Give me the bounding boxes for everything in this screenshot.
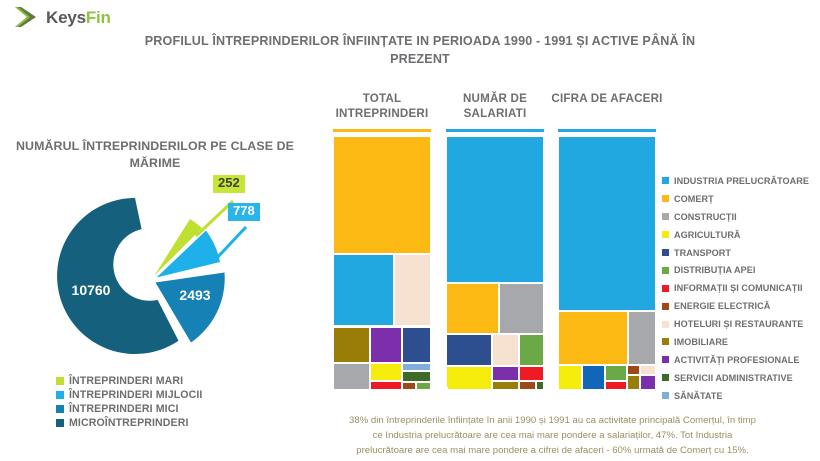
- sector-legend-swatch-servicii-administrative: [662, 374, 669, 381]
- treemap-cell[interactable]: [333, 136, 431, 254]
- legend-item-intreprinderi-mici[interactable]: ÎNTREPRINDERI MICI: [56, 402, 202, 416]
- sector-legend-swatch-informa-ii-i-comunica-ii: [662, 285, 669, 292]
- page-title: PROFILUL ÎNTREPRINDERILOR ÎNFIINȚATE IN …: [130, 32, 710, 69]
- sector-legend-label-comer: COMERȚ: [674, 194, 714, 204]
- sector-legend-swatch-comer: [662, 195, 669, 202]
- treemap-cell[interactable]: [627, 375, 641, 390]
- legend-label-intreprinderi-mici: ÎNTREPRINDERI MICI: [69, 403, 179, 415]
- treemap-body-cifra-de-afaceri: [558, 136, 656, 390]
- sector-legend-label-agricultur: AGRICULTURĂ: [674, 230, 741, 240]
- treemap-title-cifra-de-afaceri: CIFRA DE AFACERI: [549, 91, 665, 106]
- treemap-cell[interactable]: [492, 366, 518, 381]
- legend-swatch-intreprinderi-mari: [56, 377, 64, 385]
- treemap-cifra-de-afaceri: CIFRA DE AFACERI: [558, 136, 656, 390]
- legend-swatch-intreprinderi-mici: [56, 405, 64, 413]
- sector-legend-item-s-n-tate[interactable]: SĂNĂTATE: [662, 387, 809, 405]
- treemap-cell[interactable]: [519, 334, 544, 366]
- sector-legend-swatch-s-n-tate: [662, 392, 669, 399]
- sector-legend-label-activit-i-profesionale: ACTIVITĂȚI PROFESIONALE: [674, 355, 799, 365]
- sector-legend-item-informa-ii-i-comunica-ii[interactable]: INFORMAȚII ȘI COMUNICAȚII: [662, 279, 809, 297]
- sector-legend-item-hoteluri-i-restaurante[interactable]: HOTELURI ȘI RESTAURANTE: [662, 315, 809, 333]
- treemap-cell[interactable]: [402, 327, 431, 364]
- treemap-cell[interactable]: [536, 381, 544, 390]
- treemap-cell[interactable]: [370, 363, 401, 380]
- donut-callout-778: 778: [228, 203, 260, 221]
- treemap-cell[interactable]: [499, 283, 544, 334]
- treemap-cell[interactable]: [605, 381, 627, 390]
- treemap-cell[interactable]: [558, 365, 582, 390]
- sector-legend-swatch-distribu-ia-apei: [662, 267, 669, 274]
- legend-item-intreprinderi-mari[interactable]: ÎNTREPRINDERI MARI: [56, 374, 202, 388]
- treemap-cell[interactable]: [640, 375, 656, 390]
- chevron-right-icon: [14, 6, 40, 28]
- footnote: 38% din întreprinderile înființate în an…: [300, 414, 805, 459]
- sector-legend-swatch-transport: [662, 249, 669, 256]
- footnote-line-2: ce Industria prelucrătoare are cea mai m…: [300, 429, 805, 444]
- legend-label-microintreprinderi: MICROÎNTREPRINDERI: [69, 417, 189, 429]
- sector-legend-swatch-activit-i-profesionale: [662, 356, 669, 363]
- sector-legend: INDUSTRIA PRELUCRĂTOARECOMERȚCONSTRUCȚII…: [662, 172, 809, 405]
- legend-item-microintreprinderi[interactable]: MICROÎNTREPRINDERI: [56, 416, 202, 430]
- footnote-line-3: prelucrătoare are cea mai mare pondere a…: [300, 444, 805, 459]
- treemap-cell[interactable]: [558, 311, 628, 364]
- sector-legend-item-energie-electric[interactable]: ENERGIE ELECTRICĂ: [662, 297, 809, 315]
- treemap-numar-de-salariati: NUMĂR DE SALARIATI: [446, 136, 544, 390]
- treemap-cell[interactable]: [628, 311, 656, 364]
- treemap-cell[interactable]: [394, 254, 431, 326]
- treemap-title-total-intreprinderi: TOTAL INTREPRINDERI: [324, 91, 440, 122]
- sector-legend-swatch-industria-prelucr-toare: [662, 177, 669, 184]
- sector-legend-item-industria-prelucr-toare[interactable]: INDUSTRIA PRELUCRĂTOARE: [662, 172, 809, 190]
- treemap-cell[interactable]: [446, 283, 499, 334]
- legend-swatch-intreprinderi-mijlocii: [56, 391, 64, 399]
- sector-legend-label-hoteluri-i-restaurante: HOTELURI ȘI RESTAURANTE: [674, 319, 803, 329]
- donut-value-10760: 10760: [72, 282, 111, 298]
- sector-legend-item-comer[interactable]: COMERȚ: [662, 190, 809, 208]
- sector-legend-label-construc-ii: CONSTRUCȚII: [674, 212, 737, 222]
- treemap-cell[interactable]: [519, 381, 537, 390]
- treemap-cell[interactable]: [333, 254, 394, 326]
- treemap-cell[interactable]: [605, 365, 627, 381]
- legend-label-intreprinderi-mari: ÎNTREPRINDERI MARI: [69, 375, 183, 387]
- treemap-cell[interactable]: [446, 334, 492, 366]
- sector-legend-item-activit-i-profesionale[interactable]: ACTIVITĂȚI PROFESIONALE: [662, 351, 809, 369]
- sector-legend-item-servicii-administrative[interactable]: SERVICII ADMINISTRATIVE: [662, 369, 809, 387]
- treemap-cell[interactable]: [333, 327, 370, 364]
- treemap-body-total-intreprinderi: [333, 136, 431, 390]
- treemap-total-intreprinderi: TOTAL INTREPRINDERI: [333, 136, 431, 390]
- treemap-cell[interactable]: [492, 381, 518, 390]
- legend-swatch-microintreprinderi: [56, 419, 64, 427]
- treemap-cell[interactable]: [370, 381, 401, 390]
- sector-legend-label-transport: TRANSPORT: [674, 248, 731, 258]
- legend-item-intreprinderi-mijlocii[interactable]: ÎNTREPRINDERI MIJLOCII: [56, 388, 202, 402]
- treemap-body-numar-de-salariati: [446, 136, 544, 390]
- sector-legend-item-distribu-ia-apei[interactable]: DISTRIBUȚIA APEI: [662, 261, 809, 279]
- sector-legend-swatch-hoteluri-i-restaurante: [662, 321, 669, 328]
- footnote-line-1: 38% din întreprinderile înființate în an…: [300, 414, 805, 429]
- treemap-cell[interactable]: [370, 327, 401, 364]
- donut-legend: ÎNTREPRINDERI MARI ÎNTREPRINDERI MIJLOCI…: [56, 374, 202, 430]
- sector-legend-label-energie-electric: ENERGIE ELECTRICĂ: [674, 301, 770, 311]
- brand-logo: KeysFin: [14, 6, 111, 28]
- sector-legend-label-s-n-tate: SĂNĂTATE: [674, 391, 723, 401]
- donut-value-2493: 2493: [179, 287, 210, 303]
- donut-chart-title: NUMĂRUL ÎNTREPRINDERILOR PE CLASE DE MĂR…: [10, 138, 300, 173]
- sector-legend-swatch-imobiliare: [662, 338, 669, 345]
- donut-callout-252: 252: [213, 175, 245, 193]
- treemap-cell[interactable]: [656, 387, 658, 390]
- treemap-cell[interactable]: [446, 136, 544, 283]
- sector-legend-swatch-construc-ii: [662, 213, 669, 220]
- brand-name-keys: Keys: [46, 8, 86, 27]
- treemap-cell[interactable]: [446, 387, 448, 390]
- sector-legend-label-distribu-ia-apei: DISTRIBUȚIA APEI: [674, 265, 755, 275]
- sector-legend-item-transport[interactable]: TRANSPORT: [662, 244, 809, 262]
- sector-legend-item-construc-ii[interactable]: CONSTRUCȚII: [662, 208, 809, 226]
- sector-legend-label-imobiliare: IMOBILIARE: [674, 337, 728, 347]
- treemap-cell[interactable]: [519, 366, 544, 381]
- treemap-cell[interactable]: [627, 365, 641, 376]
- treemap-cell[interactable]: [640, 365, 656, 376]
- brand-wordmark: KeysFin: [46, 9, 111, 26]
- sector-legend-label-servicii-administrative: SERVICII ADMINISTRATIVE: [674, 373, 793, 383]
- treemap-cell[interactable]: [333, 363, 370, 390]
- treemap-cell[interactable]: [582, 365, 606, 390]
- treemap-cell[interactable]: [416, 382, 431, 390]
- treemap-underline-numar-de-salariati: [446, 129, 544, 132]
- sector-legend-label-informa-ii-i-comunica-ii: INFORMAȚII ȘI COMUNICAȚII: [674, 283, 803, 293]
- brand-name-fin: Fin: [86, 8, 111, 27]
- sector-legend-item-agricultur[interactable]: AGRICULTURĂ: [662, 226, 809, 244]
- treemap-cell[interactable]: [558, 136, 656, 311]
- treemap-underline-cifra-de-afaceri: [558, 129, 656, 132]
- sector-legend-swatch-agricultur: [662, 231, 669, 238]
- treemap-cell[interactable]: [402, 371, 431, 382]
- treemap-cell[interactable]: [446, 366, 492, 390]
- treemap-title-numar-de-salariati: NUMĂR DE SALARIATI: [437, 91, 553, 122]
- treemap-cell[interactable]: [402, 382, 417, 390]
- treemap-cell[interactable]: [492, 334, 518, 366]
- sector-legend-swatch-energie-electric: [662, 303, 669, 310]
- sector-legend-item-imobiliare[interactable]: IMOBILIARE: [662, 333, 809, 351]
- legend-label-intreprinderi-mijlocii: ÎNTREPRINDERI MIJLOCII: [69, 389, 202, 401]
- sector-legend-label-industria-prelucr-toare: INDUSTRIA PRELUCRĂTOARE: [674, 176, 809, 186]
- treemap-cell[interactable]: [402, 363, 431, 371]
- treemap-underline-total-intreprinderi: [333, 129, 431, 132]
- callout-leader-778: [214, 227, 246, 261]
